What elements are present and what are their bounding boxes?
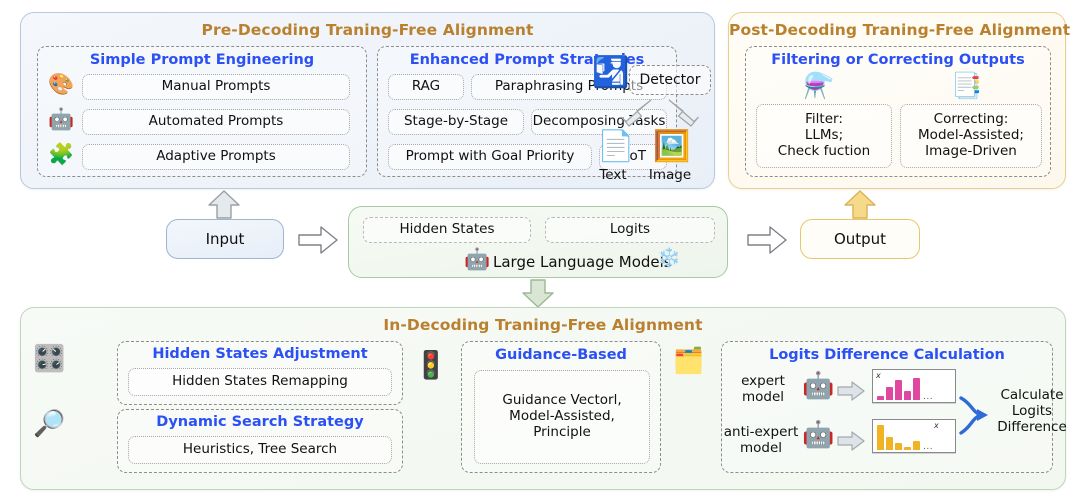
filter-line-3: Check fuction: [778, 144, 870, 160]
post-decoding-title: Post-Decoding Traning-Free Alignment: [729, 21, 1065, 39]
guidance-line-1: Guidance Vectorl,: [502, 393, 621, 409]
chip-rag[interactable]: RAG: [388, 74, 464, 100]
logits-difference-group: Logits Difference Calculation expert mod…: [721, 341, 1053, 473]
chip-stage-by-stage[interactable]: Stage-by-Stage: [388, 109, 524, 135]
anti-expert-label-line-1: anti-expert: [722, 425, 800, 441]
input-node[interactable]: Input: [166, 219, 284, 259]
filter-line-2: LLMs;: [805, 128, 843, 144]
llm-name-label: Large Language Models: [493, 253, 672, 271]
input-to-llm-arrow: [297, 225, 339, 255]
dynamic-search-strategy-group: Dynamic Search Strategy Heuristics, Tree…: [117, 409, 403, 473]
llm-to-in-decoding-arrow: [521, 278, 555, 308]
filtering-correcting-group: Filtering or Correcting Outputs ⚗️ 📑 Fil…: [745, 46, 1051, 177]
correcting-line-3: Image-Driven: [925, 144, 1017, 160]
guidance-based-title: Guidance-Based: [462, 347, 660, 363]
security-scanner-icon: 🛂: [592, 58, 629, 88]
robot-gear-icon: 🤖: [48, 109, 74, 130]
post-decoding-panel: Post-Decoding Traning-Free Alignment Fil…: [728, 12, 1066, 189]
calculate-logits-difference-label: Calculate Logits Difference: [986, 387, 1078, 436]
output-to-post-decoding-arrow: [843, 190, 877, 220]
anti-expert-to-chart-arrow: [836, 430, 866, 452]
chip-filter[interactable]: Filter: LLMs; Check fuction: [756, 104, 892, 168]
pre-decoding-title: Pre-Decoding Traning-Free Alignment: [21, 21, 714, 39]
chip-hidden-states-remapping[interactable]: Hidden States Remapping: [128, 368, 392, 396]
image-output-label: Image: [641, 167, 699, 183]
chip-automated-prompts[interactable]: Automated Prompts: [82, 109, 350, 135]
correcting-line-2: Model-Assisted;: [918, 128, 1024, 144]
snowflake-icon: ❄️: [657, 249, 681, 268]
manual-design-icon: 🎨: [48, 74, 74, 95]
anti-expert-bar-3: [904, 447, 911, 450]
robot-icon: 🤖: [464, 249, 490, 270]
anti-expert-chart-annotation: x: [934, 421, 939, 430]
expert-bar-0: [877, 396, 884, 400]
search-dashboard-icon: 🔎: [33, 411, 65, 437]
two-cards-icon: 🗂️: [673, 348, 704, 373]
sliders-icon: 🎛️: [33, 346, 65, 372]
expert-bar-2: [895, 380, 902, 400]
detector-box[interactable]: Detector: [629, 65, 711, 95]
dynamic-search-strategy-title: Dynamic Search Strategy: [118, 414, 402, 430]
chip-heuristics-tree-search[interactable]: Heuristics, Tree Search: [128, 436, 392, 464]
puzzle-adaptive-icon: 🧩: [48, 144, 74, 165]
pre-decoding-panel: Pre-Decoding Traning-Free Alignment Simp…: [20, 12, 715, 189]
expert-model-label: expert model: [730, 374, 796, 405]
anti-expert-bar-4: [913, 441, 920, 450]
hidden-states-chip[interactable]: Hidden States: [363, 217, 531, 243]
calc-line-2: Logits: [986, 403, 1078, 419]
expert-bar-4: [913, 378, 920, 400]
robot-happy-icon: 🤖: [802, 373, 834, 399]
chip-guidance-details[interactable]: Guidance Vectorl, Model-Assisted, Princi…: [474, 370, 650, 464]
expert-bar-3: [904, 391, 911, 400]
hidden-states-adjustment-group: Hidden States Adjustment Hidden States R…: [117, 341, 403, 405]
chip-adaptive-prompts[interactable]: Adaptive Prompts: [82, 144, 350, 170]
expert-chart-annotation: x: [876, 371, 881, 380]
expert-bar-1: [886, 387, 893, 400]
anti-expert-bar-1: [886, 437, 893, 450]
output-node[interactable]: Output: [800, 219, 920, 259]
anti-expert-label-line-2: model: [722, 441, 800, 457]
filter-funnel-icon: ⚗️: [803, 73, 834, 98]
anti-expert-bar-2: [895, 443, 902, 450]
expert-label-line-1: expert: [730, 374, 796, 390]
anti-expert-bar-0: [877, 425, 884, 450]
diagram-canvas: Pre-Decoding Traning-Free Alignment Simp…: [0, 0, 1080, 502]
guidance-line-2: Model-Assisted,: [509, 409, 615, 425]
logits-difference-title: Logits Difference Calculation: [722, 347, 1052, 363]
logits-chip[interactable]: Logits: [545, 217, 715, 243]
chip-manual-prompts[interactable]: Manual Prompts: [82, 74, 350, 100]
filter-line-1: Filter:: [805, 112, 843, 128]
in-decoding-panel: In-Decoding Traning-Free Alignment 🎛️ 🔎 …: [20, 307, 1066, 490]
chip-prompt-with-goal-priority[interactable]: Prompt with Goal Priority: [388, 144, 592, 170]
correcting-line-1: Correcting:: [934, 112, 1009, 128]
anti-expert-logits-chart: ...: [872, 419, 956, 453]
guidance-line-3: Principle: [533, 425, 591, 441]
expert-label-line-2: model: [730, 390, 796, 406]
simple-prompt-engineering-group: Simple Prompt Engineering 🎨 Manual Promp…: [37, 46, 367, 177]
document-correct-icon: 📑: [951, 73, 982, 98]
filtering-correcting-title: Filtering or Correcting Outputs: [746, 52, 1050, 68]
expert-chart-ellipsis: ...: [923, 394, 933, 400]
llm-to-output-arrow: [746, 225, 788, 255]
expert-to-chart-arrow: [836, 380, 866, 402]
expert-logits-chart: ...: [872, 369, 956, 403]
anti-expert-model-label: anti-expert model: [722, 425, 800, 456]
chip-correcting[interactable]: Correcting: Model-Assisted; Image-Driven: [900, 104, 1042, 168]
anti-expert-chart-ellipsis: ...: [923, 444, 933, 450]
signpost-guide-icon: 🚦: [414, 352, 448, 379]
guidance-based-group: Guidance-Based Guidance Vectorl, Model-A…: [461, 341, 661, 473]
llm-node: Hidden States Logits 🤖 Large Language Mo…: [348, 206, 728, 278]
calc-line-3: Difference: [986, 419, 1078, 435]
robot-sad-icon: 🤖: [802, 422, 834, 448]
calc-line-1: Calculate: [986, 387, 1078, 403]
input-to-pre-decoding-arrow: [207, 190, 241, 220]
text-output-label: Text: [587, 167, 639, 183]
txt-file-icon: 📄: [597, 132, 634, 162]
simple-prompt-engineering-title: Simple Prompt Engineering: [38, 52, 366, 68]
hidden-states-adjustment-title: Hidden States Adjustment: [118, 346, 402, 362]
in-decoding-title: In-Decoding Traning-Free Alignment: [21, 316, 1065, 334]
image-stack-icon: 🖼️: [653, 132, 690, 162]
